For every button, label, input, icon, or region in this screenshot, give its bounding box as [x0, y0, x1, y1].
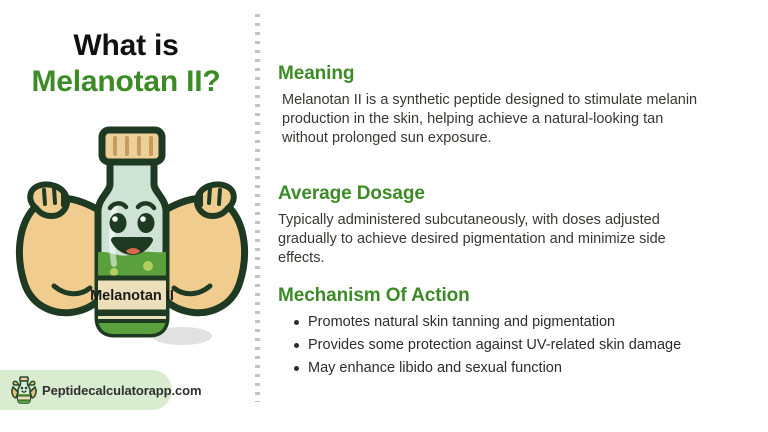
- site-footer-badge[interactable]: Peptidecalculatorapp.com: [0, 370, 172, 410]
- section-average-dosage: Average Dosage Typically administered su…: [278, 182, 710, 268]
- bottle-label-text: Melanotan II: [90, 288, 174, 304]
- bottle-mascot-logo-icon: [10, 375, 38, 405]
- section-mechanism-of-action: Mechanism Of Action Promotes natural ski…: [278, 284, 710, 382]
- section-heading-mechanism-of-action: Mechanism Of Action: [278, 284, 710, 307]
- infographic-canvas: What is Melanotan II?: [0, 0, 768, 432]
- footer-site-url: Peptidecalculatorapp.com: [42, 383, 201, 398]
- mechanism-bullet-list: Promotes natural skin tanning and pigmen…: [278, 313, 710, 378]
- right-column: Meaning Melanotan II is a synthetic pept…: [278, 0, 748, 432]
- title-line-2: Melanotan II?: [0, 64, 252, 100]
- section-meaning: Meaning Melanotan II is a synthetic pept…: [278, 62, 710, 148]
- list-item: Provides some protection against UV-rela…: [278, 336, 710, 355]
- section-body-average-dosage: Typically administered subcutaneously, w…: [278, 211, 710, 268]
- bottle-cap: [102, 130, 162, 162]
- dotted-divider: [255, 14, 260, 402]
- section-heading-average-dosage: Average Dosage: [278, 182, 710, 205]
- bottle-mascot-icon: Melanotan II: [14, 104, 250, 356]
- list-item: May enhance libido and sexual function: [278, 359, 710, 378]
- left-column: What is Melanotan II?: [0, 0, 258, 432]
- title-line-1: What is: [0, 28, 252, 64]
- page-title: What is Melanotan II?: [0, 28, 252, 100]
- section-heading-meaning: Meaning: [278, 62, 710, 85]
- list-item: Promotes natural skin tanning and pigmen…: [278, 313, 710, 332]
- section-body-meaning: Melanotan II is a synthetic peptide desi…: [278, 91, 710, 148]
